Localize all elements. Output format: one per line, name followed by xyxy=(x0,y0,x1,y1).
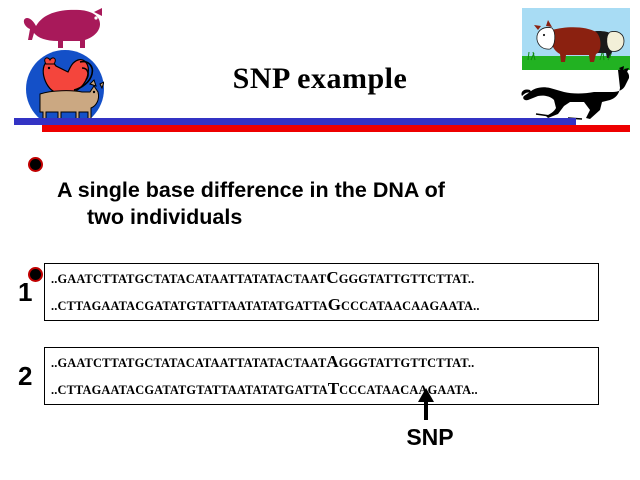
sequence-1-bottom-suffix: CCCATAACAAGAATA.. xyxy=(341,299,480,313)
sequence-block-1: 1 ..GAATCTTATGCTATACATAATTATATACTAATCGGG… xyxy=(18,263,599,321)
red-divider-bar xyxy=(42,125,630,132)
sequence-box-1: ..GAATCTTATGCTATACATAATTATATACTAATCGGGTA… xyxy=(44,263,599,321)
bullet-item-1-text: A single base difference in the DNA of t… xyxy=(57,150,445,258)
bullet-item-1: A single base difference in the DNA of t… xyxy=(30,150,630,258)
bullet-item-1-line-1: A single base difference in the DNA of xyxy=(57,178,445,202)
sequence-1-top-prefix: ..GAATCTTATGCTATACATAATTATATACTAAT xyxy=(51,272,326,286)
sequence-1-bottom-strand: ..CTTAGAATACGATATGTATTAATATATGATTAGCCCAT… xyxy=(51,292,598,319)
sequence-2-top-prefix: ..GAATCTTATGCTATACATAATTATATACTAAT xyxy=(51,356,326,370)
sequence-2-top-snp-base: A xyxy=(326,352,338,371)
snp-annotation-label: SNP xyxy=(385,424,475,451)
bullet-item-1-line-2: two individuals xyxy=(57,204,445,231)
sequence-2-bottom-prefix: ..CTTAGAATACGATATGTATTAATATATGATTA xyxy=(51,383,328,397)
sequence-label-2: 2 xyxy=(18,361,44,392)
pig-icon xyxy=(22,6,106,54)
up-arrow-icon xyxy=(417,388,435,420)
sequence-2-bottom-suffix: CCCATAACAAGAATA.. xyxy=(339,383,478,397)
sequence-block-2: 2 ..GAATCTTATGCTATACATAATTATATACTAATAGGG… xyxy=(18,347,599,405)
page-title: SNP example xyxy=(0,62,640,96)
bullet-dot-icon xyxy=(30,159,41,170)
sequence-1-bottom-prefix: ..CTTAGAATACGATATGTATTAATATATGATTA xyxy=(51,299,328,313)
sequence-box-2: ..GAATCTTATGCTATACATAATTATATACTAATAGGGTA… xyxy=(44,347,599,405)
sequence-2-top-suffix: GGGTATTGTTCTTAT.. xyxy=(339,356,475,370)
sequence-1-top-strand: ..GAATCTTATGCTATACATAATTATATACTAATCGGGTA… xyxy=(51,265,598,292)
sequence-1-top-snp-base: C xyxy=(326,268,338,287)
cattle-photo-icon xyxy=(522,8,630,70)
sequence-2-top-strand: ..GAATCTTATGCTATACATAATTATATACTAATAGGGTA… xyxy=(51,349,598,376)
slide-canvas: SNP example A single base difference in … xyxy=(0,0,640,480)
blue-divider-bar xyxy=(14,118,576,125)
sequence-1-bottom-snp-base: G xyxy=(328,295,341,314)
sequence-2-bottom-snp-base: T xyxy=(328,379,339,398)
sequence-label-1: 1 xyxy=(18,277,44,308)
sequence-1-top-suffix: GGGTATTGTTCTTAT.. xyxy=(339,272,475,286)
sequence-2-bottom-strand: ..CTTAGAATACGATATGTATTAATATATGATTATCCCAT… xyxy=(51,376,598,403)
cattle-illustration xyxy=(522,8,630,70)
